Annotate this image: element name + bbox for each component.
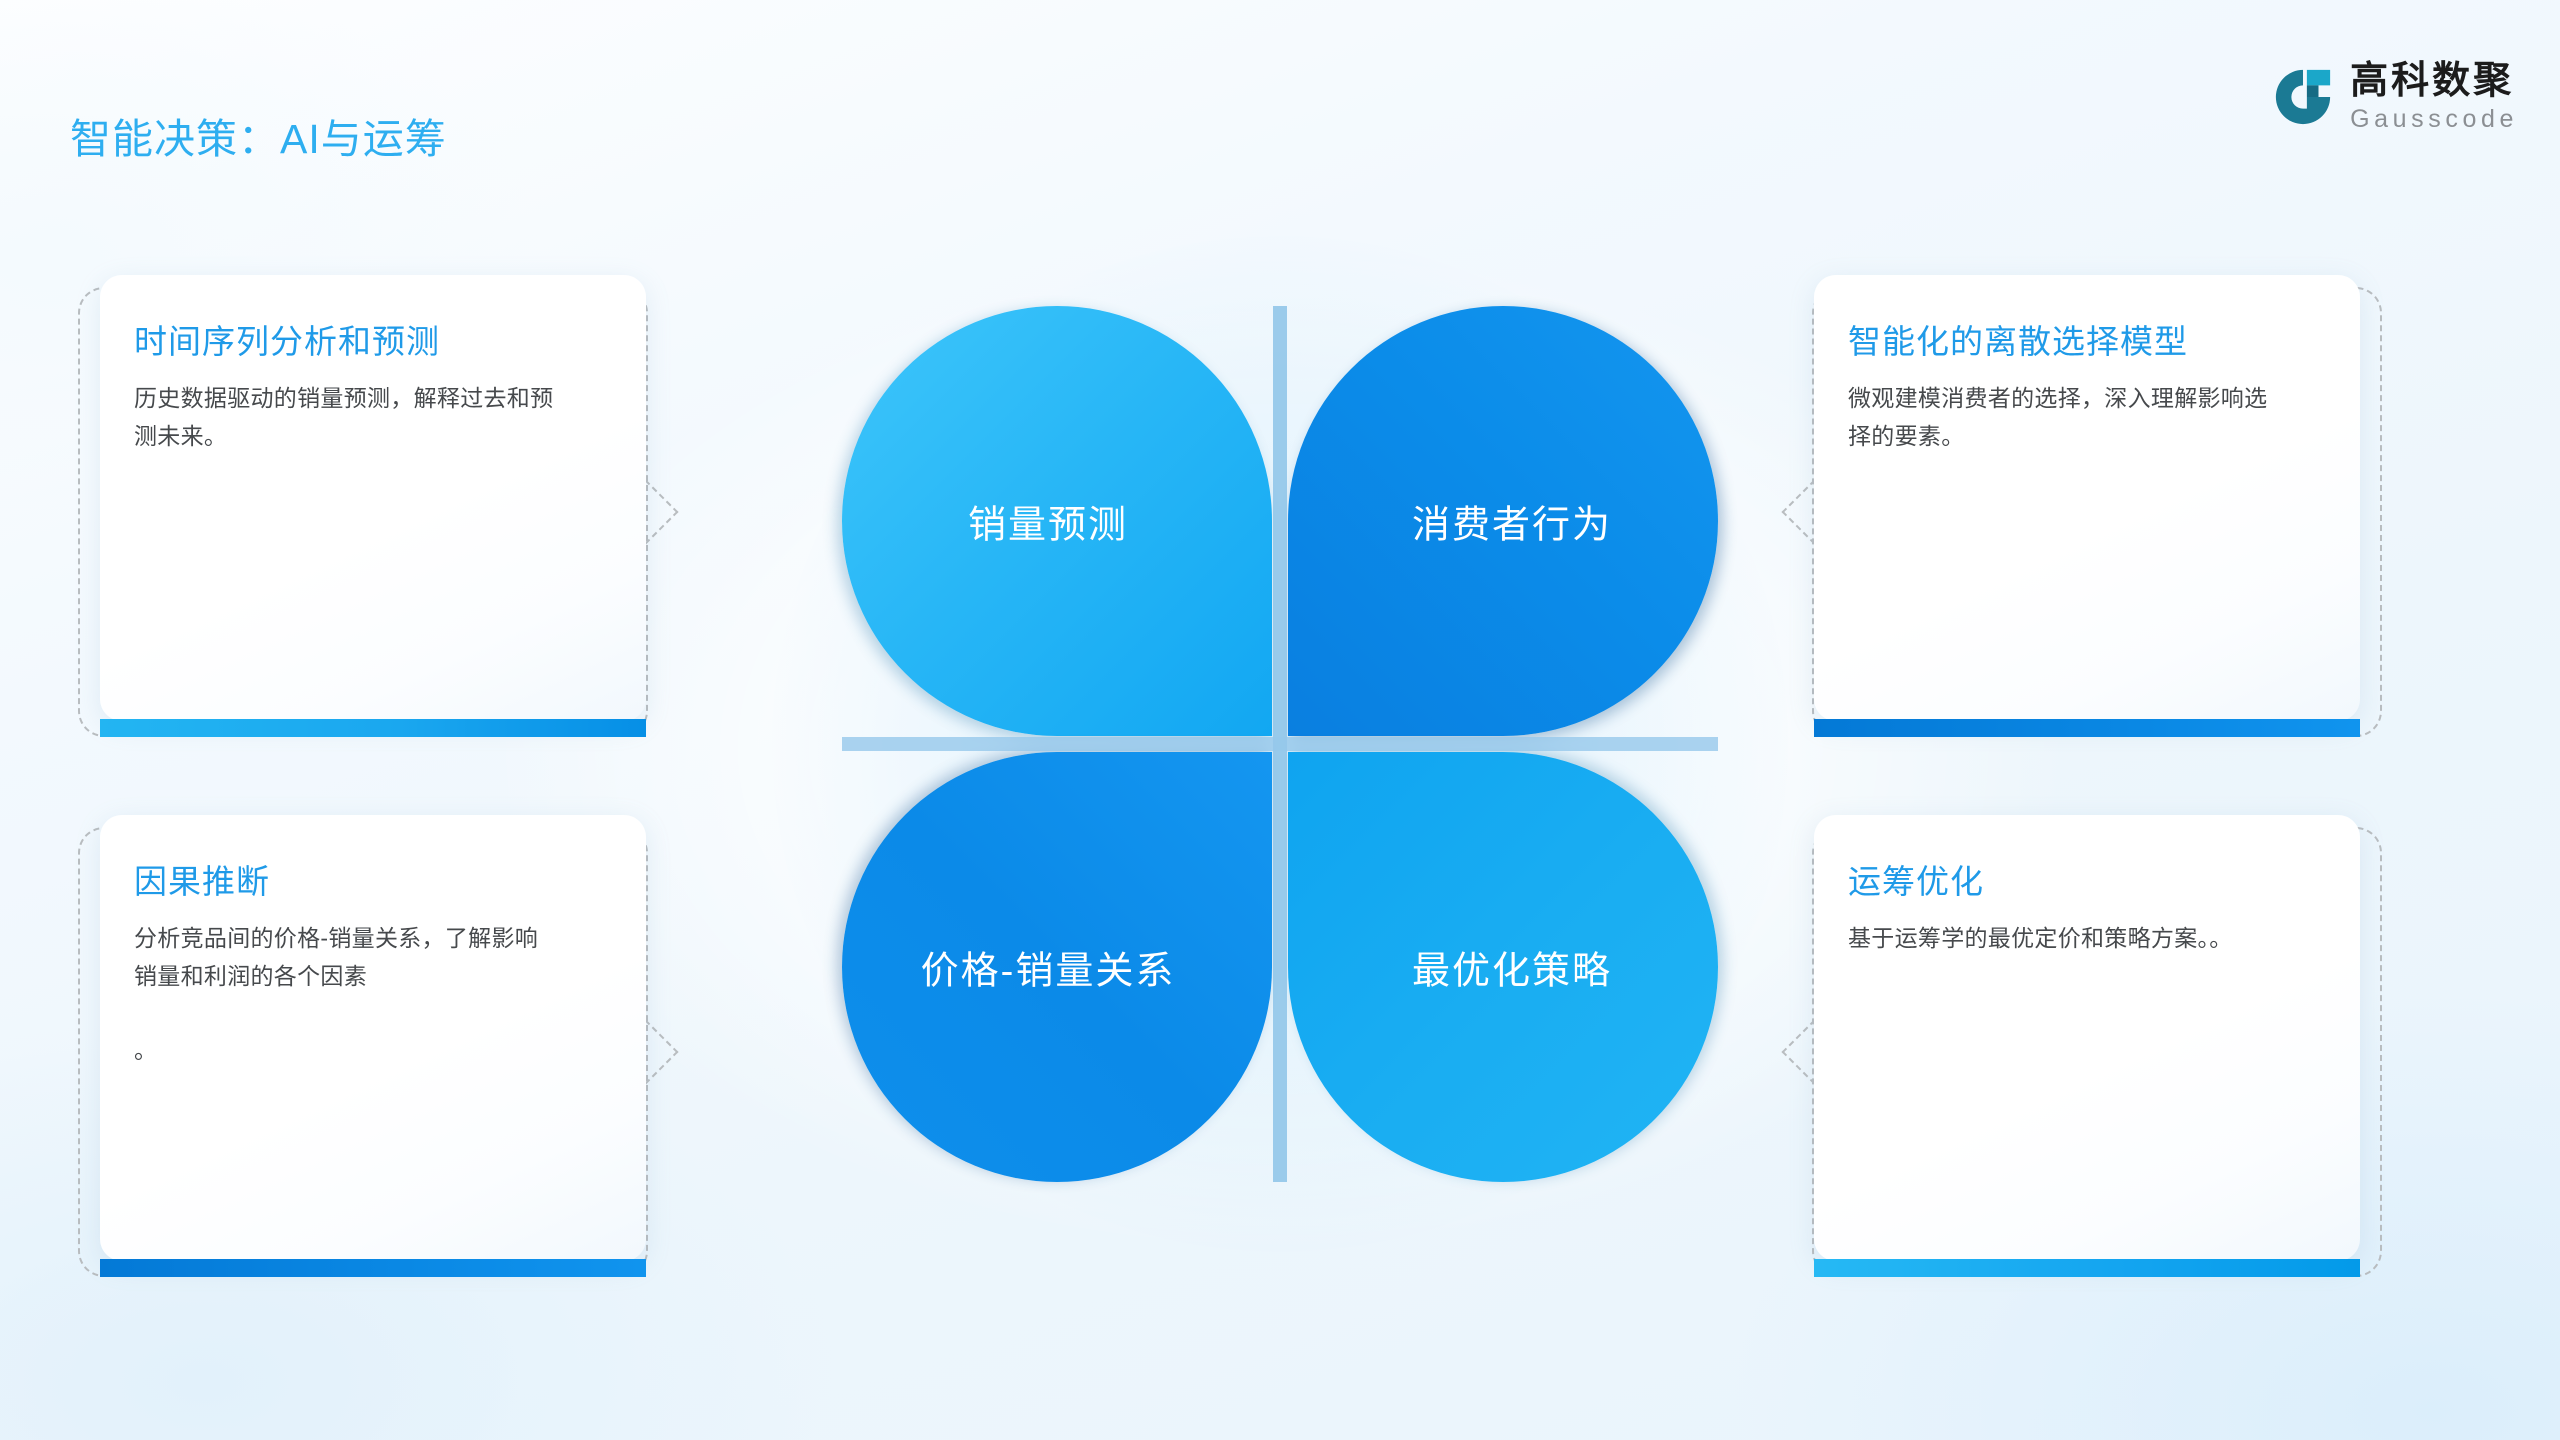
- page-title: 智能决策：AI与运筹: [70, 105, 447, 165]
- slide-header: 智能决策：AI与运筹 高科数聚 Gausscode: [0, 0, 2560, 190]
- card-accent-bar: [100, 1259, 646, 1277]
- card-accent-bar: [1814, 1259, 2360, 1277]
- petal-sales-forecast[interactable]: 销量预测: [842, 306, 1272, 736]
- card-panel[interactable]: 智能化的离散选择模型 微观建模消费者的选择，深入理解影响选 择的要素。: [1814, 275, 2360, 721]
- petal-label: 消费者行为: [1306, 494, 1718, 549]
- card-panel[interactable]: 时间序列分析和预测 历史数据驱动的销量预测，解释过去和预 测未来。: [100, 275, 646, 721]
- card-body: 基于运筹学的最优定价和策略方案。。: [1848, 920, 2322, 957]
- card-body: 微观建模消费者的选择，深入理解影响选 择的要素。: [1848, 380, 2322, 455]
- petal-seam-horizontal: [842, 737, 1718, 751]
- petal-label: 价格-销量关系: [824, 940, 1272, 995]
- feature-card-discrete-choice[interactable]: 智能化的离散选择模型 微观建模消费者的选择，深入理解影响选 择的要素。: [1812, 287, 2382, 737]
- card-title: 智能化的离散选择模型: [1848, 321, 2322, 362]
- petal-price-volume-relation[interactable]: 价格-销量关系: [842, 752, 1272, 1182]
- card-title: 因果推断: [134, 861, 608, 902]
- card-title: 时间序列分析和预测: [134, 321, 608, 362]
- petal-label: 最优化策略: [1306, 940, 1718, 995]
- card-accent-bar: [1814, 719, 2360, 737]
- gausscode-logo-icon: [2272, 66, 2334, 128]
- card-title: 运筹优化: [1848, 861, 2322, 902]
- card-body: 分析竞品间的价格-销量关系，了解影响 销量和利润的各个因素 。: [134, 920, 608, 1069]
- brand-name-cn: 高科数聚: [2350, 62, 2518, 100]
- brand-wordmark: 高科数聚 Gausscode: [2350, 62, 2518, 132]
- feature-card-causal-inference[interactable]: 因果推断 分析竞品间的价格-销量关系，了解影响 销量和利润的各个因素 。: [78, 827, 648, 1277]
- brand-name-en: Gausscode: [2350, 107, 2518, 132]
- card-body: 历史数据驱动的销量预测，解释过去和预 测未来。: [134, 380, 608, 455]
- petal-optimization-strategy[interactable]: 最优化策略: [1288, 752, 1718, 1182]
- brand-logo: 高科数聚 Gausscode: [2272, 62, 2518, 132]
- feature-card-time-series[interactable]: 时间序列分析和预测 历史数据驱动的销量预测，解释过去和预 测未来。: [78, 287, 648, 737]
- feature-card-operations-research[interactable]: 运筹优化 基于运筹学的最优定价和策略方案。。: [1812, 827, 2382, 1277]
- card-accent-bar: [100, 719, 646, 737]
- petal-seam-vertical: [1273, 306, 1287, 1182]
- card-panel[interactable]: 运筹优化 基于运筹学的最优定价和策略方案。。: [1814, 815, 2360, 1261]
- petal-consumer-behavior[interactable]: 消费者行为: [1288, 306, 1718, 736]
- slide-canvas: 智能决策：AI与运筹 高科数聚 Gausscode 时间序列分析和预测 历史数据…: [0, 0, 2560, 1440]
- card-panel[interactable]: 因果推断 分析竞品间的价格-销量关系，了解影响 销量和利润的各个因素 。: [100, 815, 646, 1261]
- four-petal-diagram: 销量预测 消费者行为 价格-销量关系 最优化策略: [842, 306, 1718, 1182]
- petal-label: 销量预测: [824, 494, 1272, 549]
